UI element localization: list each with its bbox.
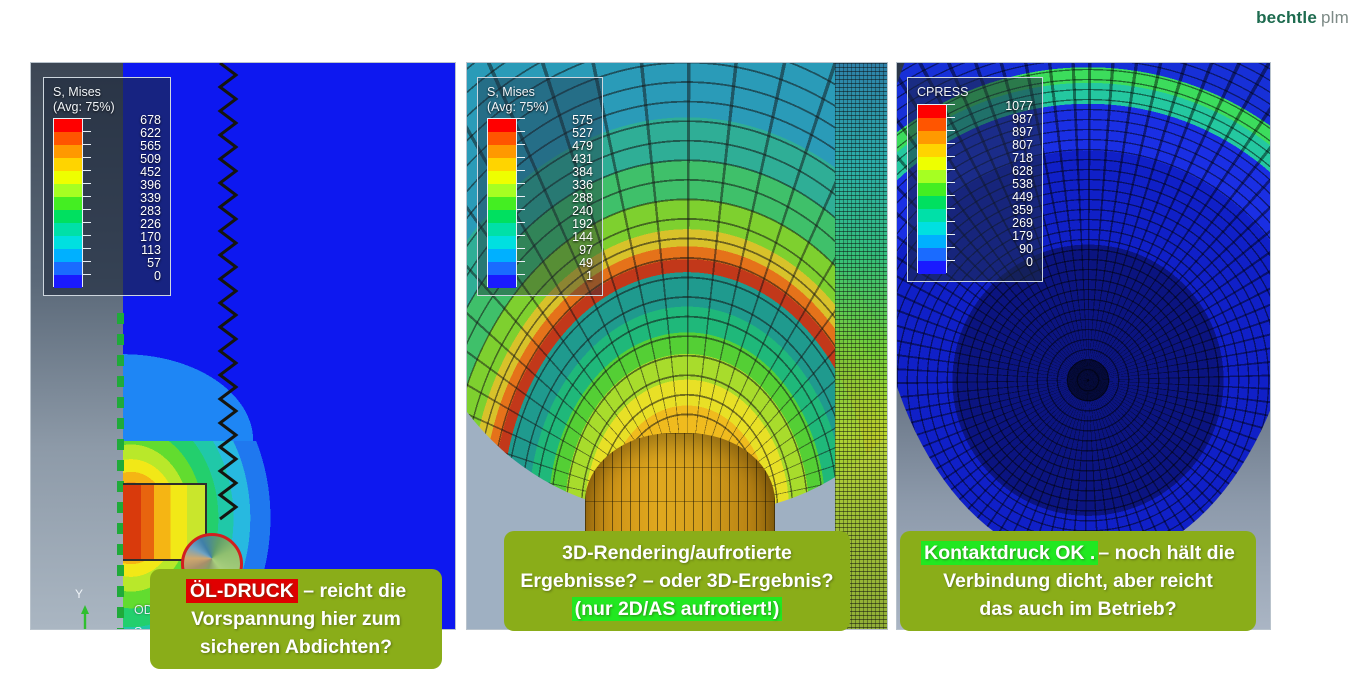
callout-2-highlight: (nur 2D/AS aufrotiert!) [572, 597, 783, 621]
legend-value-1: 987 [1012, 113, 1033, 126]
slide-canvas: bechtleplm [0, 0, 1367, 685]
legend-swatch-2 [488, 145, 516, 158]
step-label: S [134, 625, 142, 629]
legend-tick-2 [517, 144, 525, 145]
legend-title-line2: (Avg: 75%) [53, 100, 161, 115]
legend-swatch-6 [488, 197, 516, 210]
axis-label-y: Y [75, 587, 83, 601]
legend-mises-2d: S, Mises (Avg: 75%) 67862256550945239633… [43, 77, 171, 296]
panel-axisymmetric-mises[interactable]: Y Z ODB: Sealing-3d-SREW-3d-THD_2dAS-01.… [30, 62, 456, 630]
legend-swatch-10 [54, 249, 82, 262]
legend-tick-6 [83, 196, 91, 197]
legend-swatch-7 [488, 210, 516, 223]
legend-tick-9 [517, 235, 525, 236]
legend-swatches [917, 104, 947, 273]
legend-swatch-11 [54, 262, 82, 275]
legend-mises-3d: S, Mises (Avg: 75%) 57552747943138433628… [477, 77, 603, 296]
legend-tick-12 [83, 274, 91, 275]
legend-swatch-4 [54, 171, 82, 184]
legend-tick-11 [947, 247, 955, 248]
legend-tick-4 [947, 156, 955, 157]
legend-swatch-6 [54, 197, 82, 210]
legend-title-line2: (Avg: 75%) [487, 100, 593, 115]
callout-contact-pressure: Kontaktdruck OK .– noch hält die Verbind… [900, 531, 1256, 631]
legend-values: 1077987897807718628538449359269179900 [956, 104, 1033, 273]
legend-cpress: CPRESS 107798789780771862853844935926917… [907, 77, 1043, 282]
legend-tick-0 [517, 118, 525, 119]
legend-swatch-1 [488, 132, 516, 145]
legend-swatch-0 [54, 119, 82, 132]
legend-tick-8 [83, 222, 91, 223]
callout-3-line2: Verbindung dicht, aber reicht [943, 570, 1213, 592]
callout-3-rest: – noch hält die [1098, 542, 1235, 564]
callout-1-highlight: ÖL-DRUCK [186, 579, 298, 603]
legend-tick-5 [947, 169, 955, 170]
legend-value-9: 269 [1012, 217, 1033, 230]
legend-tick-0 [83, 118, 91, 119]
legend-value-8: 359 [1012, 204, 1033, 217]
legend-swatch-10 [918, 235, 946, 248]
legend-swatches [487, 118, 517, 287]
panel-1-viewport: Y Z ODB: Sealing-3d-SREW-3d-THD_2dAS-01.… [31, 63, 455, 629]
legend-swatch-11 [488, 262, 516, 275]
legend-tick-11 [517, 261, 525, 262]
callout-oil-pressure: ÖL-DRUCK – reicht die Vorspannung hier z… [150, 569, 442, 669]
legend-values: 57552747943138433628824019214497491 [526, 118, 593, 287]
legend-swatch-0 [488, 119, 516, 132]
brand-name: bechtle [1256, 8, 1317, 27]
legend-swatches [53, 118, 83, 287]
legend-swatch-0 [918, 105, 946, 118]
brand-suffix: plm [1321, 8, 1349, 27]
legend-tick-8 [517, 222, 525, 223]
legend-swatch-7 [54, 210, 82, 223]
legend-tick-9 [83, 235, 91, 236]
legend-value-0: 1077 [1005, 100, 1033, 113]
legend-tick-1 [83, 131, 91, 132]
legend-tick-1 [517, 131, 525, 132]
legend-title-line1: CPRESS [917, 85, 1033, 100]
legend-tick-5 [517, 183, 525, 184]
legend-tick-7 [83, 209, 91, 210]
legend-value-12: 0 [154, 270, 161, 283]
callout-3-highlight: Kontaktdruck OK . [921, 541, 1098, 565]
legend-swatch-7 [918, 196, 946, 209]
legend-tick-9 [947, 221, 955, 222]
legend-value-11: 90 [1019, 243, 1033, 256]
legend-swatch-12 [488, 275, 516, 288]
legend-tick-10 [947, 234, 955, 235]
legend-value-5: 628 [1012, 165, 1033, 178]
legend-tick-12 [517, 274, 525, 275]
legend-tick-6 [947, 182, 955, 183]
legend-tick-7 [517, 209, 525, 210]
legend-value-12: 0 [1026, 256, 1033, 269]
callout-2-line2: Ergebnisse? – oder 3D-Ergebnis? [520, 570, 833, 592]
legend-swatch-9 [488, 236, 516, 249]
callout-1-line3: sicheren Abdichten? [200, 636, 392, 658]
legend-values: 678622565509452396339283226170113570 [92, 118, 161, 287]
legend-tick-8 [947, 208, 955, 209]
axis-triad-icon [73, 599, 125, 629]
brand-logo: bechtleplm [1256, 8, 1349, 28]
legend-tick-3 [83, 157, 91, 158]
legend-tick-10 [83, 248, 91, 249]
legend-swatch-3 [918, 144, 946, 157]
legend-tick-3 [947, 143, 955, 144]
legend-swatch-1 [54, 132, 82, 145]
legend-swatch-5 [54, 184, 82, 197]
legend-value-10: 179 [1012, 230, 1033, 243]
legend-swatch-1 [918, 118, 946, 131]
legend-tick-2 [947, 130, 955, 131]
thread-profile-line [216, 63, 242, 563]
legend-tick-12 [947, 260, 955, 261]
legend-swatch-5 [488, 184, 516, 197]
legend-value-2: 897 [1012, 126, 1033, 139]
legend-title-line1: S, Mises [53, 85, 161, 100]
legend-tick-0 [947, 104, 955, 105]
legend-swatch-8 [488, 223, 516, 236]
callout-2-line1: 3D-Rendering/aufrotierte [562, 542, 792, 564]
legend-title-line1: S, Mises [487, 85, 593, 100]
legend-swatch-12 [54, 275, 82, 288]
legend-swatch-4 [488, 171, 516, 184]
callout-1-line2: Vorspannung hier zum [191, 608, 401, 630]
legend-swatch-3 [54, 158, 82, 171]
legend-swatch-5 [918, 170, 946, 183]
legend-tick-11 [83, 261, 91, 262]
legend-tick-1 [947, 117, 955, 118]
legend-swatch-6 [918, 183, 946, 196]
legend-value-3: 807 [1012, 139, 1033, 152]
legend-swatch-9 [54, 236, 82, 249]
legend-tick-7 [947, 195, 955, 196]
callout-1-rest: – reicht die [298, 580, 406, 602]
legend-tick-4 [83, 170, 91, 171]
legend-value-12: 1 [586, 270, 593, 283]
legend-value-4: 718 [1012, 152, 1033, 165]
legend-value-7: 449 [1012, 191, 1033, 204]
legend-swatch-2 [918, 131, 946, 144]
legend-swatch-2 [54, 145, 82, 158]
legend-swatch-9 [918, 222, 946, 235]
legend-swatch-11 [918, 248, 946, 261]
legend-swatch-10 [488, 249, 516, 262]
legend-tick-5 [83, 183, 91, 184]
legend-tick-3 [517, 157, 525, 158]
legend-ticks [517, 118, 526, 287]
legend-swatch-8 [918, 209, 946, 222]
legend-swatch-8 [54, 223, 82, 236]
boundary-condition-marks [117, 313, 124, 629]
legend-swatch-3 [488, 158, 516, 171]
legend-tick-10 [517, 248, 525, 249]
callout-3d-rendering: 3D-Rendering/aufrotierte Ergebnisse? – o… [504, 531, 850, 631]
callout-3-line3: das auch im Betrieb? [979, 598, 1176, 620]
legend-ticks [83, 118, 92, 287]
legend-ticks [947, 104, 956, 273]
legend-tick-4 [517, 170, 525, 171]
legend-value-6: 538 [1012, 178, 1033, 191]
legend-tick-2 [83, 144, 91, 145]
legend-swatch-12 [918, 261, 946, 274]
legend-tick-6 [517, 196, 525, 197]
legend-swatch-4 [918, 157, 946, 170]
